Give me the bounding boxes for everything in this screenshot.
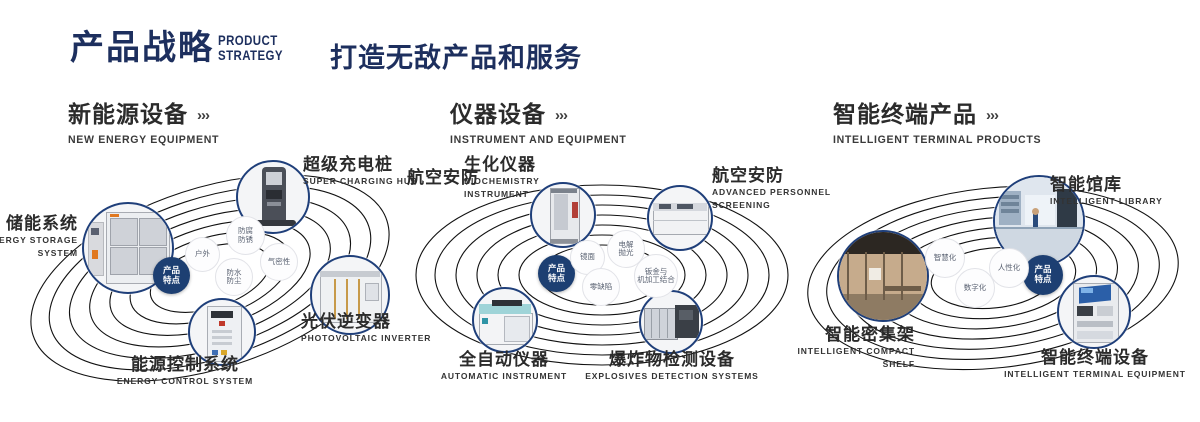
feature-bubble-waterproof: 防水 防尘 — [215, 258, 253, 296]
label-cn: 智能馆库 — [1050, 175, 1163, 194]
feature-bubble-airtightness: 气密性 — [260, 243, 298, 281]
feature-text: 数字化 — [964, 284, 987, 292]
core-line2: 特点 — [548, 274, 565, 284]
feature-text: 户外 — [195, 250, 210, 258]
automatic-instrument-icon — [474, 289, 536, 351]
label-en-line2: INSTRUMENT — [464, 189, 540, 200]
label-en-line1: ENERGY CONTROL SYSTEM — [70, 376, 300, 387]
label-en-line1: SUPER CHARGING HUB — [303, 176, 418, 187]
feature-bubble-humanized: 人性化 — [989, 248, 1029, 288]
page-title-english-line2: STRATEGY — [218, 48, 300, 63]
feature-text-line2: 抛光 — [619, 249, 634, 257]
node-advanced-personnel-screening[interactable] — [647, 185, 713, 251]
product-strategy-infographic: 产品战略 PRODUCT STRATEGY 打造无敌产品和服务 新能源设备›››… — [0, 0, 1200, 422]
label-cn: 智能终端设备 — [985, 348, 1200, 367]
cluster-intelligent-terminal: 智能馆库 INTELLIGENT LIBRARY 智能密集架 INTELLIGE… — [795, 150, 1195, 415]
core-line2: 特点 — [163, 276, 180, 286]
label-cn: 储能系统 — [0, 214, 78, 233]
biochemistry-instrument-icon — [532, 184, 594, 246]
compact-shelf-icon — [839, 232, 927, 320]
chevron-right-icon: ››› — [986, 107, 998, 124]
feature-text: 零缺陷 — [590, 283, 613, 291]
page-title-english-line1: PRODUCT — [218, 33, 300, 48]
feature-text: 镜面 — [580, 253, 595, 261]
chevron-right-icon: ››› — [197, 107, 209, 124]
feature-text-line2: 防锈 — [238, 236, 253, 244]
page-subtitle: 打造无敌产品和服务 — [330, 36, 582, 75]
core-bubble-product-features: 产品 特点 — [153, 257, 190, 294]
page-title-english: PRODUCT STRATEGY — [218, 33, 300, 63]
label-en-line1: INTELLIGENT LIBRARY — [1050, 196, 1163, 207]
cluster-instrument: 航空安防 生化仪器 BIOCHEMISTRY INSTRUMENT — [402, 150, 802, 415]
label-energy-control-system: 能源控制系统 ENERGY CONTROL SYSTEM — [70, 355, 300, 387]
node-biochemistry-instrument[interactable] — [530, 182, 596, 248]
section-title-cn: 新能源设备››› — [68, 95, 225, 129]
label-super-charging-hub: 超级充电桩 SUPER CHARGING HUB — [303, 155, 418, 187]
label-en-line1: ENERGY STORAGE — [0, 235, 78, 246]
feature-bubble-sheetmetal-machining: 钣金与 机加工结合 — [634, 254, 678, 298]
terminal-equipment-icon — [1059, 277, 1129, 347]
feature-bubble-anticorrosion: 防腐 防锈 — [226, 216, 265, 255]
feature-text: 气密性 — [268, 258, 291, 266]
section-title-en: NEW ENERGY EQUIPMENT — [68, 134, 219, 146]
page-title: 产品战略 — [70, 28, 214, 68]
cluster-new-energy: 储能系统 ENERGY STORAGE SYSTEM 超级充电桩 SUPER C… — [10, 150, 410, 415]
feature-bubble-outdoor: 户外 — [185, 237, 220, 272]
node-automatic-instrument[interactable] — [472, 287, 538, 353]
label-compact-shelf: 智能密集架 INTELLIGENT COMPACT SHELF — [725, 325, 915, 370]
label-cn: 智能密集架 — [725, 325, 915, 344]
feature-bubble-smart: 智慧化 — [925, 238, 965, 278]
feature-text-line2: 防尘 — [227, 277, 242, 285]
label-en-line1: INTELLIGENT TERMINAL EQUIPMENT — [985, 369, 1200, 380]
node-compact-shelf[interactable] — [837, 230, 929, 322]
label-cn: 超级充电桩 — [303, 155, 418, 174]
label-cn: 能源控制系统 — [70, 355, 300, 374]
feature-text: 人性化 — [998, 264, 1021, 272]
label-cn: 生化仪器 — [464, 155, 540, 174]
label-energy-storage-system: 储能系统 ENERGY STORAGE SYSTEM — [0, 214, 78, 259]
label-biochemistry-instrument: 生化仪器 BIOCHEMISTRY INSTRUMENT — [464, 155, 540, 200]
label-en-line2: SHELF — [725, 359, 915, 370]
label-en-line1: BIOCHEMISTRY — [464, 176, 540, 187]
section-title-en: INTELLIGENT TERMINAL PRODUCTS — [833, 134, 1041, 146]
explosives-detection-icon — [641, 292, 701, 352]
label-terminal-equipment: 智能终端设备 INTELLIGENT TERMINAL EQUIPMENT — [985, 348, 1200, 380]
section-title-new-energy: 新能源设备››› NEW ENERGY EQUIPMENT — [68, 95, 225, 146]
node-explosives-detection[interactable] — [639, 290, 703, 354]
feature-bubble-zero-defect: 零缺陷 — [582, 268, 620, 306]
section-title-instrument: 仪器设备››› INSTRUMENT AND EQUIPMENT — [450, 95, 634, 146]
core-bubble-product-features: 产品 特点 — [1023, 255, 1063, 295]
feature-text: 智慧化 — [934, 254, 957, 262]
page-header: 产品战略 PRODUCT STRATEGY 打造无敌产品和服务 — [0, 0, 1200, 88]
label-intelligent-library: 智能馆库 INTELLIGENT LIBRARY — [1050, 175, 1163, 207]
section-title-cn: 智能终端产品››› — [833, 95, 1050, 129]
core-line2: 特点 — [1034, 275, 1051, 285]
section-title-en: INSTRUMENT AND EQUIPMENT — [450, 134, 626, 146]
node-terminal-equipment[interactable] — [1057, 275, 1131, 349]
section-title-intelligent-terminal: 智能终端产品››› INTELLIGENT TERMINAL PRODUCTS — [833, 95, 1050, 146]
section-title-cn: 仪器设备››› — [450, 95, 634, 129]
label-en-line1: INTELLIGENT COMPACT — [725, 346, 915, 357]
personnel-screening-icon — [649, 187, 711, 249]
label-en-line2: SYSTEM — [0, 248, 78, 259]
label-en-line1: EXPLOSIVES DETECTION SYSTEMS — [552, 371, 792, 382]
feature-text-line2: 机加工结合 — [637, 276, 675, 284]
chevron-right-icon: ››› — [555, 107, 567, 124]
